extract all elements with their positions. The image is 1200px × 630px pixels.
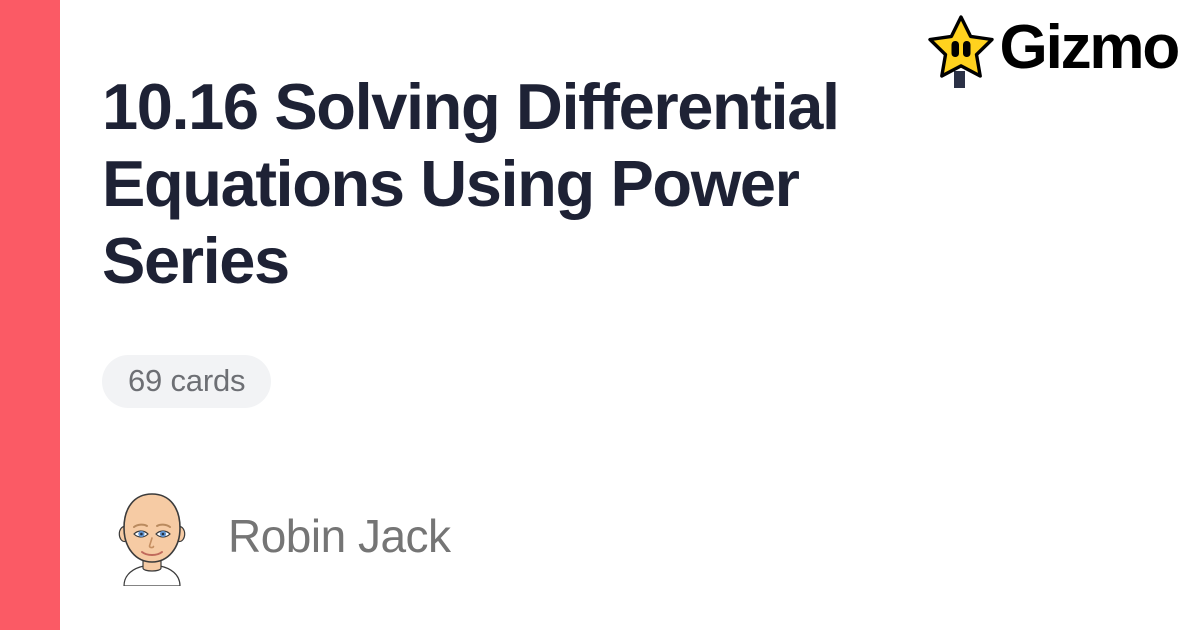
brand-name: Gizmo: [1000, 17, 1178, 79]
accent-bar: [0, 0, 60, 630]
card-count-badge: 69 cards: [102, 355, 271, 408]
author-name: Robin Jack: [228, 511, 451, 561]
deck-info: 10.16 Solving Differential Equations Usi…: [102, 68, 1002, 408]
share-card-preview: Gizmo 10.16 Solving Differential Equatio…: [0, 0, 1200, 630]
author-row: Robin Jack: [102, 486, 451, 586]
page-title: 10.16 Solving Differential Equations Usi…: [102, 68, 982, 299]
bitmoji-avatar-icon: [102, 486, 202, 586]
